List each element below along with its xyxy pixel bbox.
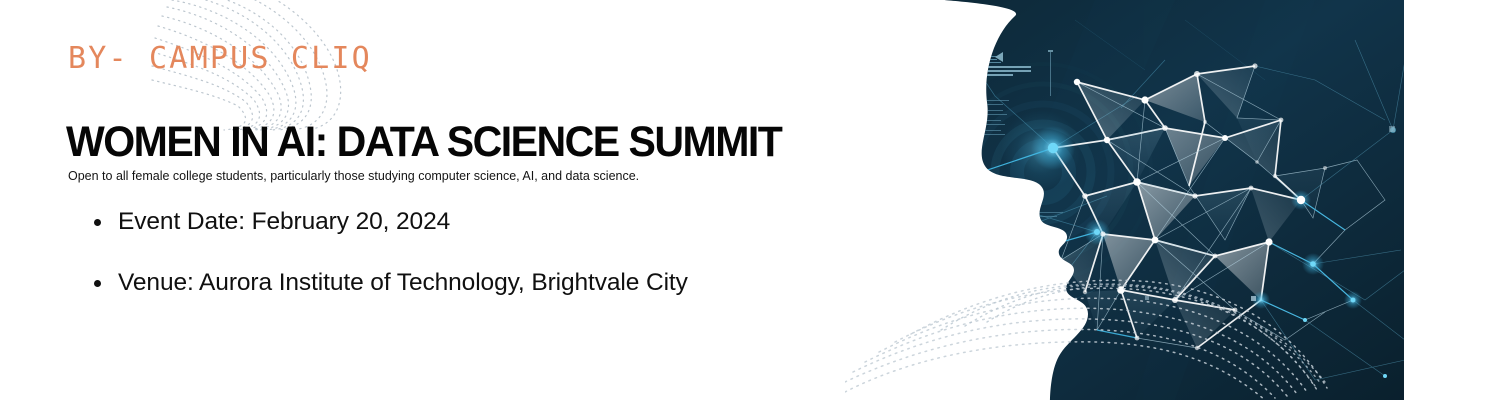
byline: BY- CAMPUS CLIQ: [68, 41, 372, 76]
ai-head-graphic-svg: [845, 0, 1405, 400]
event-banner: BY- CAMPUS CLIQ WOMEN IN AI: DATA SCIENC…: [0, 0, 1500, 400]
text-content-column: BY- CAMPUS CLIQ WOMEN IN AI: DATA SCIENC…: [0, 0, 860, 400]
event-details-list: Event Date: February 20, 2024 Venue: Aur…: [68, 203, 788, 325]
right-white-margin: [1404, 0, 1500, 400]
eligibility-description: Open to all female college students, par…: [68, 168, 668, 185]
ai-head-network-illustration: [845, 0, 1405, 400]
head-silhouette: [845, 0, 1405, 400]
list-item-venue: Venue: Aurora Institute of Technology, B…: [68, 264, 788, 301]
page-title: WOMEN IN AI: DATA SCIENCE SUMMIT: [66, 120, 781, 164]
list-item-event-date: Event Date: February 20, 2024: [68, 203, 788, 240]
